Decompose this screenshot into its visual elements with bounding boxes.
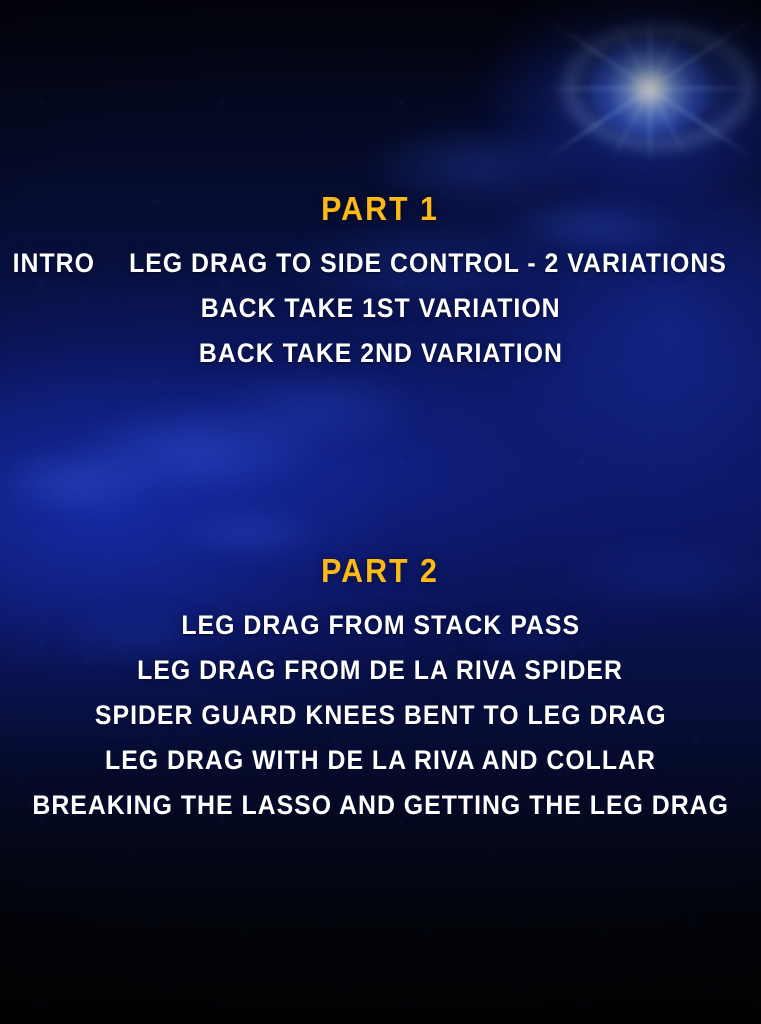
list-item: BACK TAKE 1ST VARIATION (201, 286, 561, 331)
list-item: LEG DRAG FROM DE LA RIVA SPIDER (138, 648, 624, 693)
section-part-2: PART 2 LEG DRAG FROM STACK PASS LEG DRAG… (0, 554, 761, 828)
list-item: SPIDER GUARD KNEES BENT TO LEG DRAG (95, 693, 667, 738)
part-1-lesson-list: INTRO LEG DRAG TO SIDE CONTROL - 2 VARIA… (0, 241, 761, 376)
part-2-lesson-list: LEG DRAG FROM STACK PASS LEG DRAG FROM D… (0, 603, 761, 828)
list-item: LEG DRAG WITH DE LA RIVA AND COLLAR (105, 738, 656, 783)
list-item: LEG DRAG FROM STACK PASS (181, 603, 580, 648)
list-item: LEG DRAG TO SIDE CONTROL - 2 VARIATIONS (129, 241, 727, 286)
part-2-title: PART 2 (322, 554, 440, 587)
list-item: BACK TAKE 2ND VARIATION (198, 331, 562, 376)
section-part-1: PART 1 INTRO LEG DRAG TO SIDE CONTROL - … (0, 192, 761, 376)
list-item: BREAKING THE LASSO AND GETTING THE LEG D… (32, 783, 729, 828)
curriculum-content: PART 1 INTRO LEG DRAG TO SIDE CONTROL - … (0, 0, 761, 1024)
poster-slide: PART 1 INTRO LEG DRAG TO SIDE CONTROL - … (0, 0, 761, 1024)
list-item: INTRO (12, 241, 94, 286)
part-1-title: PART 1 (322, 192, 440, 225)
